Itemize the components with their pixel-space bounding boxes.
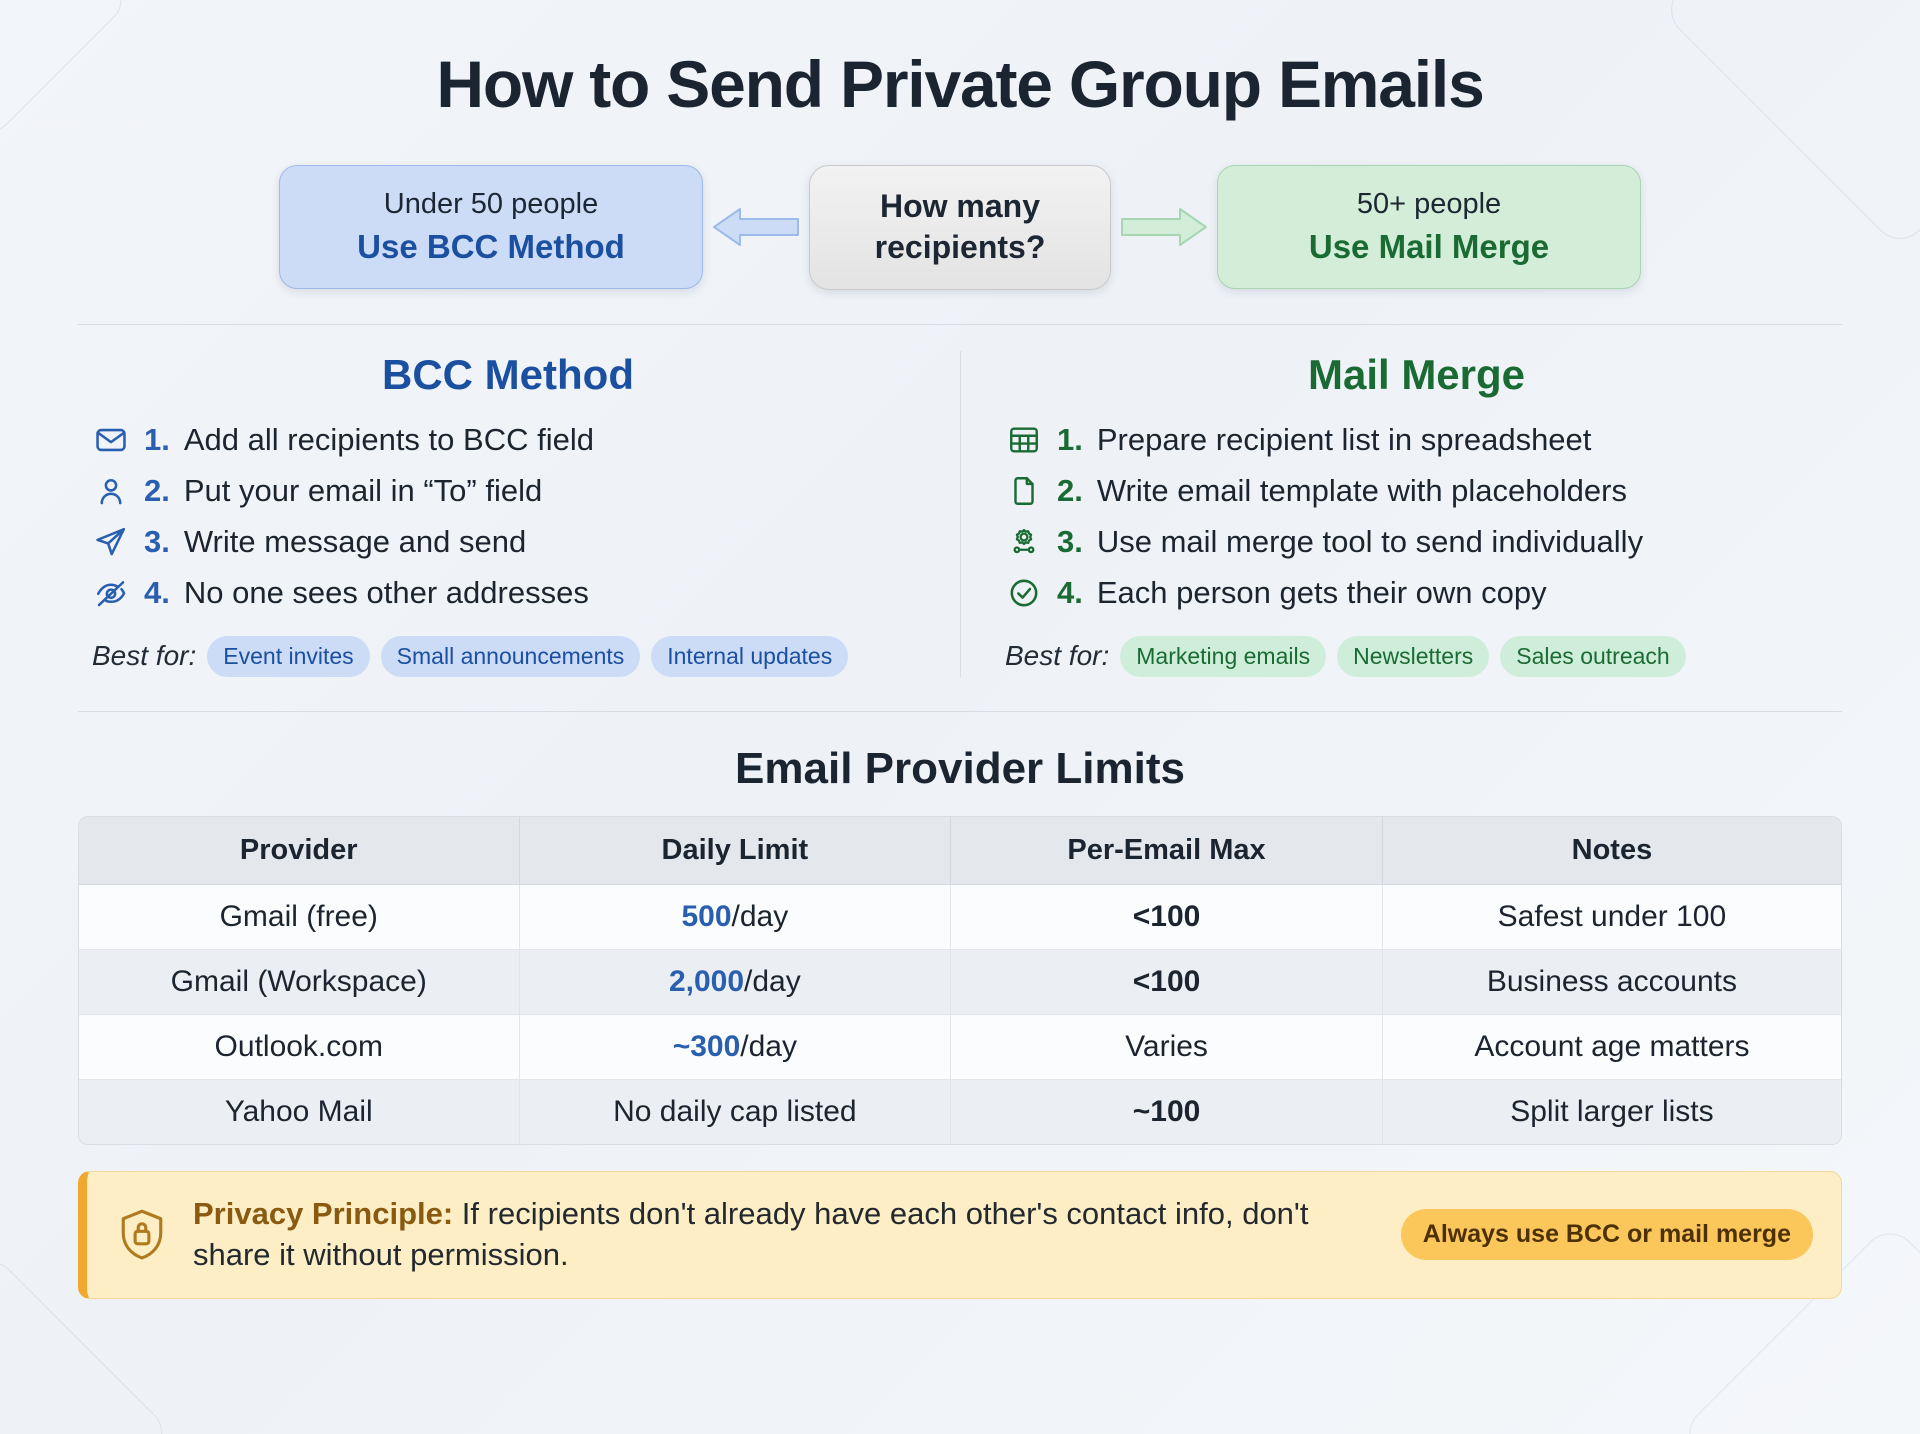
infographic-page: How to Send Private Group Emails Under 5… bbox=[0, 0, 1920, 1434]
privacy-text: Privacy Principle: If recipients don't a… bbox=[193, 1194, 1377, 1276]
flow-mailmerge-action: Use Mail Merge bbox=[1246, 226, 1612, 268]
privacy-badge: Always use BCC or mail merge bbox=[1401, 1209, 1813, 1260]
cell-daily-limit: ~300/day bbox=[520, 1015, 952, 1080]
cell-notes: Business accounts bbox=[1383, 950, 1841, 1015]
gears-icon bbox=[1005, 523, 1043, 561]
step-text: Write message and send bbox=[184, 524, 526, 560]
privacy-banner: Privacy Principle: If recipients don't a… bbox=[78, 1171, 1842, 1299]
cell-daily-limit: 500/day bbox=[520, 885, 952, 950]
table-header-row: Provider Daily Limit Per-Email Max Notes bbox=[79, 817, 1841, 885]
page-title: How to Send Private Group Emails bbox=[78, 0, 1842, 121]
method-column-mailmerge: Mail Merge 1. Prepare recipient list in … bbox=[960, 351, 1842, 677]
tag-item: Internal updates bbox=[651, 636, 848, 677]
bestfor-label: Best for: bbox=[1005, 640, 1109, 672]
step-item: 3. Write message and send bbox=[92, 523, 924, 561]
step-text: Prepare recipient list in spreadsheet bbox=[1097, 422, 1592, 458]
daily-limit-suffix: /day bbox=[732, 900, 789, 933]
cell-per-email: ~100 bbox=[951, 1080, 1383, 1144]
cell-notes: Safest under 100 bbox=[1383, 885, 1841, 950]
decision-flow: Under 50 people Use BCC Method How many … bbox=[78, 165, 1842, 290]
document-icon bbox=[1005, 472, 1043, 510]
step-item: 1. Prepare recipient list in spreadsheet bbox=[1005, 421, 1828, 459]
table-row: Yahoo Mail No daily cap listed ~100 Spli… bbox=[79, 1080, 1841, 1144]
step-item: 2. Write email template with placeholder… bbox=[1005, 472, 1828, 510]
flow-question-line1: How many bbox=[838, 186, 1082, 228]
flow-box-bcc: Under 50 people Use BCC Method bbox=[279, 165, 703, 289]
tag-item: Sales outreach bbox=[1500, 636, 1685, 677]
step-item: 1. Add all recipients to BCC field bbox=[92, 421, 924, 459]
column-header-notes: Notes bbox=[1383, 817, 1841, 885]
step-text: No one sees other addresses bbox=[184, 575, 589, 611]
daily-limit-suffix: /day bbox=[740, 1030, 797, 1063]
cell-daily-limit: 2,000/day bbox=[520, 950, 952, 1015]
table-row: Gmail (free) 500/day <100 Safest under 1… bbox=[79, 885, 1841, 950]
bestfor-row-mailmerge: Best for: Marketing emails Newsletters S… bbox=[1005, 636, 1828, 677]
divider-top bbox=[78, 324, 1842, 325]
check-circle-icon bbox=[1005, 574, 1043, 612]
shield-lock-icon bbox=[115, 1207, 169, 1263]
step-item: 2. Put your email in “To” field bbox=[92, 472, 924, 510]
step-text: Each person gets their own copy bbox=[1097, 575, 1547, 611]
table-title: Email Provider Limits bbox=[78, 744, 1842, 794]
step-number: 4. bbox=[1057, 575, 1083, 611]
step-text: Write email template with placeholders bbox=[1097, 473, 1627, 509]
step-number: 3. bbox=[1057, 524, 1083, 560]
step-item: 4. No one sees other addresses bbox=[92, 574, 924, 612]
cell-notes: Split larger lists bbox=[1383, 1080, 1841, 1144]
cell-per-email: <100 bbox=[951, 950, 1383, 1015]
table-row: Outlook.com ~300/day Varies Account age … bbox=[79, 1015, 1841, 1080]
flow-bcc-condition: Under 50 people bbox=[308, 186, 674, 223]
column-header-daily: Daily Limit bbox=[520, 817, 952, 885]
person-icon bbox=[92, 472, 130, 510]
methods-section: BCC Method 1. Add all recipients to BCC … bbox=[78, 351, 1842, 677]
cell-daily-limit: No daily cap listed bbox=[520, 1080, 952, 1144]
steps-list-bcc: 1. Add all recipients to BCC field 2. Pu… bbox=[92, 421, 924, 612]
cell-provider: Gmail (Workspace) bbox=[79, 950, 520, 1015]
column-header-provider: Provider bbox=[79, 817, 520, 885]
step-number: 3. bbox=[144, 524, 170, 560]
daily-limit-value: 2,000 bbox=[669, 965, 744, 998]
cell-provider: Gmail (free) bbox=[79, 885, 520, 950]
spreadsheet-icon bbox=[1005, 421, 1043, 459]
step-text: Put your email in “To” field bbox=[184, 473, 542, 509]
arrow-left-icon bbox=[703, 199, 809, 255]
flow-bcc-action: Use BCC Method bbox=[308, 226, 674, 268]
privacy-label: Privacy Principle: bbox=[193, 1196, 453, 1231]
flow-box-question: How many recipients? bbox=[809, 165, 1111, 290]
step-item: 4. Each person gets their own copy bbox=[1005, 574, 1828, 612]
divider-bottom bbox=[78, 711, 1842, 712]
table-row: Gmail (Workspace) 2,000/day <100 Busines… bbox=[79, 950, 1841, 1015]
flow-box-mailmerge: 50+ people Use Mail Merge bbox=[1217, 165, 1641, 289]
column-header-per-email: Per-Email Max bbox=[951, 817, 1383, 885]
cell-per-email: Varies bbox=[951, 1015, 1383, 1080]
tag-item: Event invites bbox=[207, 636, 369, 677]
daily-limit-suffix: /day bbox=[744, 965, 801, 998]
send-icon bbox=[92, 523, 130, 561]
daily-limit-value: ~300 bbox=[673, 1030, 741, 1063]
cell-provider: Yahoo Mail bbox=[79, 1080, 520, 1144]
step-number: 1. bbox=[1057, 422, 1083, 458]
method-column-bcc: BCC Method 1. Add all recipients to BCC … bbox=[78, 351, 960, 677]
arrow-right-icon bbox=[1111, 199, 1217, 255]
cell-notes: Account age matters bbox=[1383, 1015, 1841, 1080]
flow-mailmerge-condition: 50+ people bbox=[1246, 186, 1612, 223]
step-text: Use mail merge tool to send individually bbox=[1097, 524, 1643, 560]
method-title-mailmerge: Mail Merge bbox=[1005, 351, 1828, 399]
daily-limit-suffix: No daily cap listed bbox=[613, 1095, 856, 1128]
step-number: 4. bbox=[144, 575, 170, 611]
steps-list-mailmerge: 1. Prepare recipient list in spreadsheet… bbox=[1005, 421, 1828, 612]
step-number: 1. bbox=[144, 422, 170, 458]
flow-question-line2: recipients? bbox=[838, 227, 1082, 269]
cell-per-email: <100 bbox=[951, 885, 1383, 950]
method-title-bcc: BCC Method bbox=[92, 351, 924, 399]
envelope-icon bbox=[92, 421, 130, 459]
tag-item: Newsletters bbox=[1337, 636, 1489, 677]
step-item: 3. Use mail merge tool to send individua… bbox=[1005, 523, 1828, 561]
tag-item: Small announcements bbox=[381, 636, 641, 677]
step-number: 2. bbox=[144, 473, 170, 509]
eye-off-icon bbox=[92, 574, 130, 612]
email-provider-limits-table: Provider Daily Limit Per-Email Max Notes… bbox=[78, 816, 1842, 1145]
daily-limit-value: 500 bbox=[681, 900, 731, 933]
tag-item: Marketing emails bbox=[1120, 636, 1326, 677]
bestfor-label: Best for: bbox=[92, 640, 196, 672]
cell-provider: Outlook.com bbox=[79, 1015, 520, 1080]
bestfor-row-bcc: Best for: Event invites Small announceme… bbox=[92, 636, 924, 677]
step-text: Add all recipients to BCC field bbox=[184, 422, 594, 458]
step-number: 2. bbox=[1057, 473, 1083, 509]
